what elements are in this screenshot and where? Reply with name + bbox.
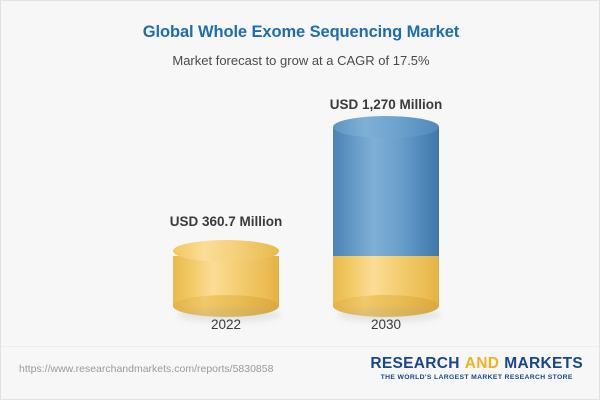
category-label-2030: 2030 bbox=[306, 317, 466, 332]
footer: https://www.researchandmarkets.com/repor… bbox=[1, 346, 599, 399]
logo-wordmark: RESEARCHANDMARKETS bbox=[370, 356, 583, 372]
research-and-markets-logo[interactable]: RESEARCHANDMARKETS THE WORLD'S LARGEST M… bbox=[370, 356, 583, 381]
cylinder-2022[interactable] bbox=[173, 251, 279, 306]
chart-subtitle: Market forecast to grow at a CAGR of 17.… bbox=[1, 53, 600, 68]
logo-word-and: AND bbox=[465, 355, 499, 372]
report-url[interactable]: https://www.researchandmarkets.com/repor… bbox=[19, 363, 273, 375]
bar-group-2022: USD 360.7 Million 2022 bbox=[146, 81, 306, 346]
logo-word-research: RESEARCH bbox=[370, 355, 459, 372]
category-label-2022: 2022 bbox=[146, 317, 306, 332]
cylinder-top-cap-2022 bbox=[173, 240, 279, 262]
chart-title: Global Whole Exome Sequencing Market bbox=[1, 23, 600, 42]
logo-word-markets: MARKETS bbox=[504, 355, 583, 372]
logo-tagline: THE WORLD'S LARGEST MARKET RESEARCH STOR… bbox=[370, 374, 583, 381]
cylinder-top-cap-2030 bbox=[333, 116, 439, 138]
value-label-2030: USD 1,270 Million bbox=[306, 97, 466, 112]
value-label-2022: USD 360.7 Million bbox=[146, 214, 306, 229]
infographic-container: Global Whole Exome Sequencing Market Mar… bbox=[0, 0, 600, 400]
bar-group-2030: USD 1,270 Million 2030 bbox=[306, 81, 466, 346]
plot-area: USD 360.7 Million 2022 USD 1,270 Million… bbox=[1, 81, 600, 346]
cylinder-growth-segment-2030 bbox=[333, 127, 439, 257]
cylinder-2030[interactable] bbox=[333, 127, 439, 306]
